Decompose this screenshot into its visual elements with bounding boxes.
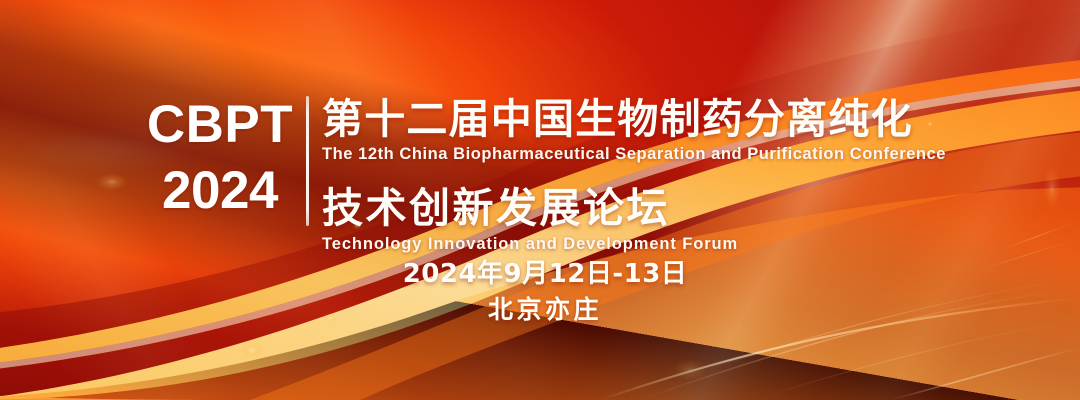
conference-logo: CBPT 2024 [139,92,301,224]
vertical-divider [306,96,309,226]
forum-title-chinese: 技术创新发展论坛 [322,185,962,231]
title-block: 第十二届中国生物制药分离纯化 The 12th China Biopharmac… [322,96,962,254]
conference-title-chinese: 第十二届中国生物制药分离纯化 [322,96,962,142]
conference-title-english: The 12th China Biopharmaceutical Separat… [322,144,962,164]
event-location: 北京亦庄 [330,295,760,325]
logo-acronym: CBPT [139,92,301,158]
event-details: 2024年9月12日-13日 北京亦庄 [330,258,760,325]
banner-content: CBPT 2024 第十二届中国生物制药分离纯化 The 12th China … [0,0,1080,400]
event-date: 2024年9月12日-13日 [330,258,760,290]
forum-title-english: Technology Innovation and Development Fo… [322,234,962,254]
logo-year: 2024 [139,158,301,224]
conference-banner: CBPT 2024 第十二届中国生物制药分离纯化 The 12th China … [0,0,1080,400]
